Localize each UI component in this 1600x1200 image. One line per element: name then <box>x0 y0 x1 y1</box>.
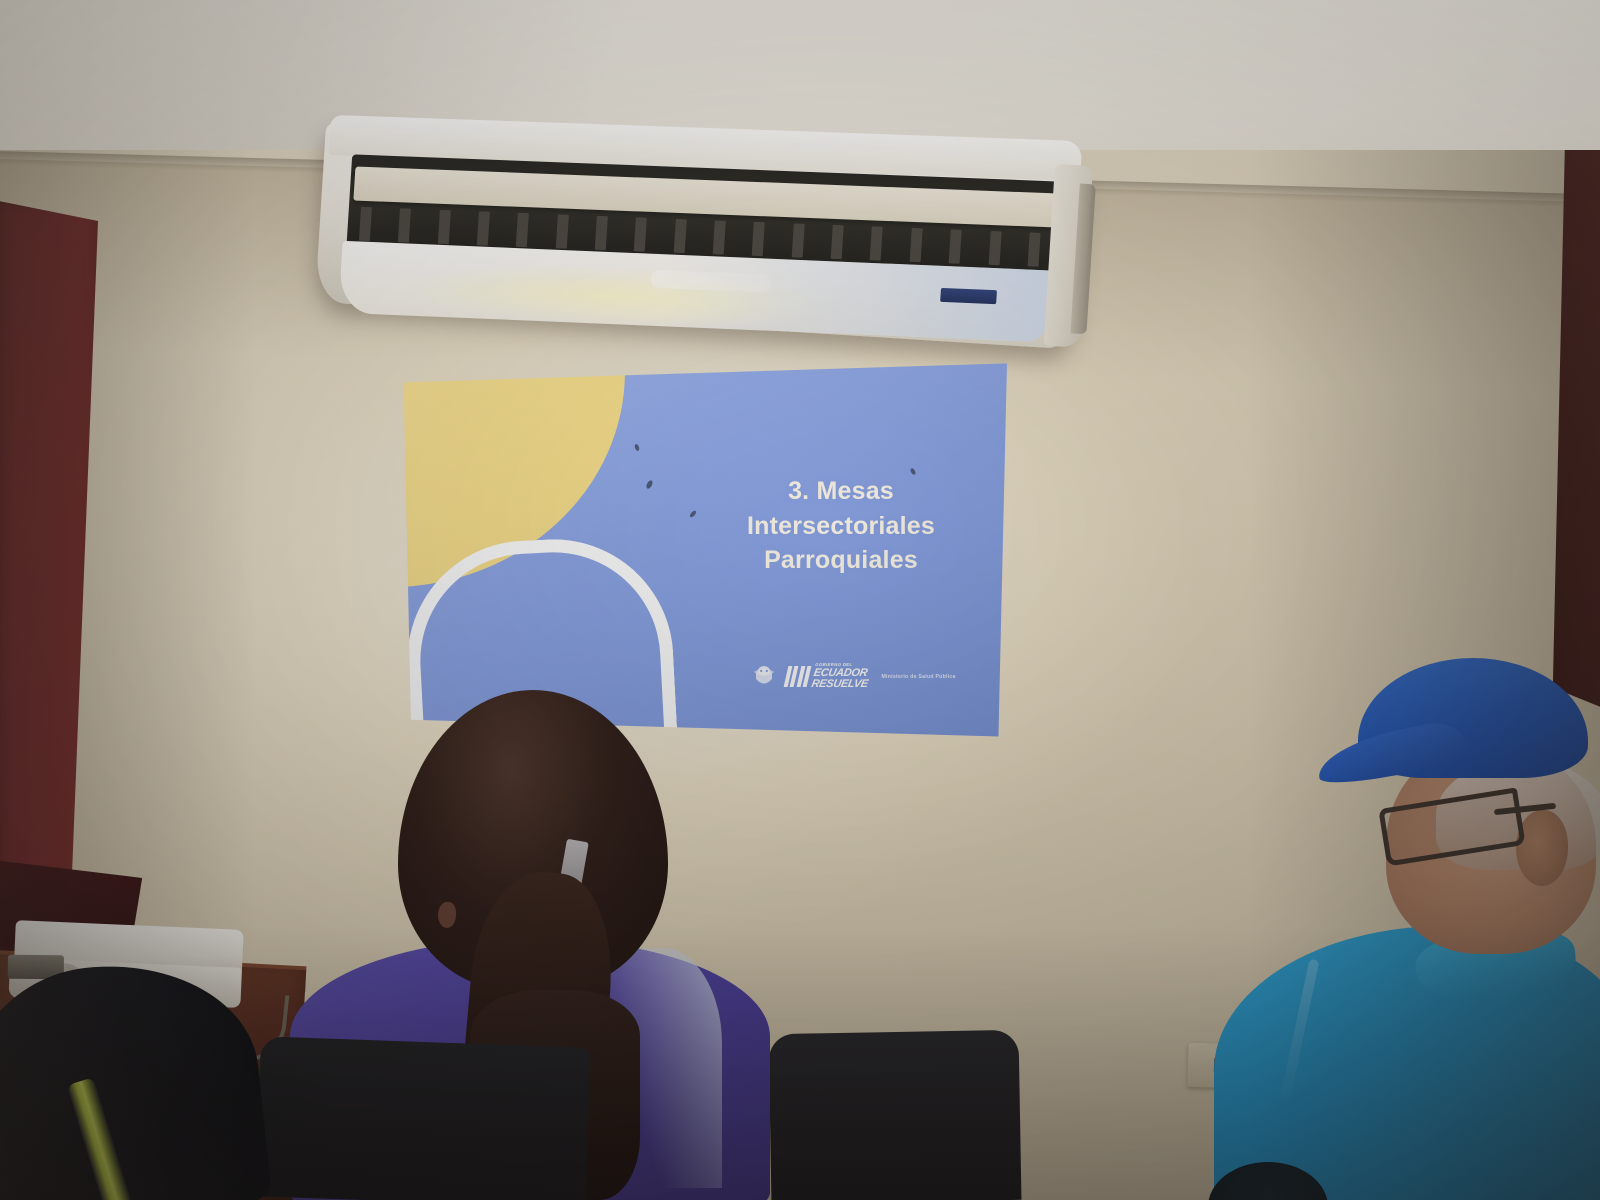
wall-vignette <box>0 150 1600 1200</box>
conference-room-photo: 3. Mesas Intersectoriales Parroquiales <box>0 0 1600 1200</box>
